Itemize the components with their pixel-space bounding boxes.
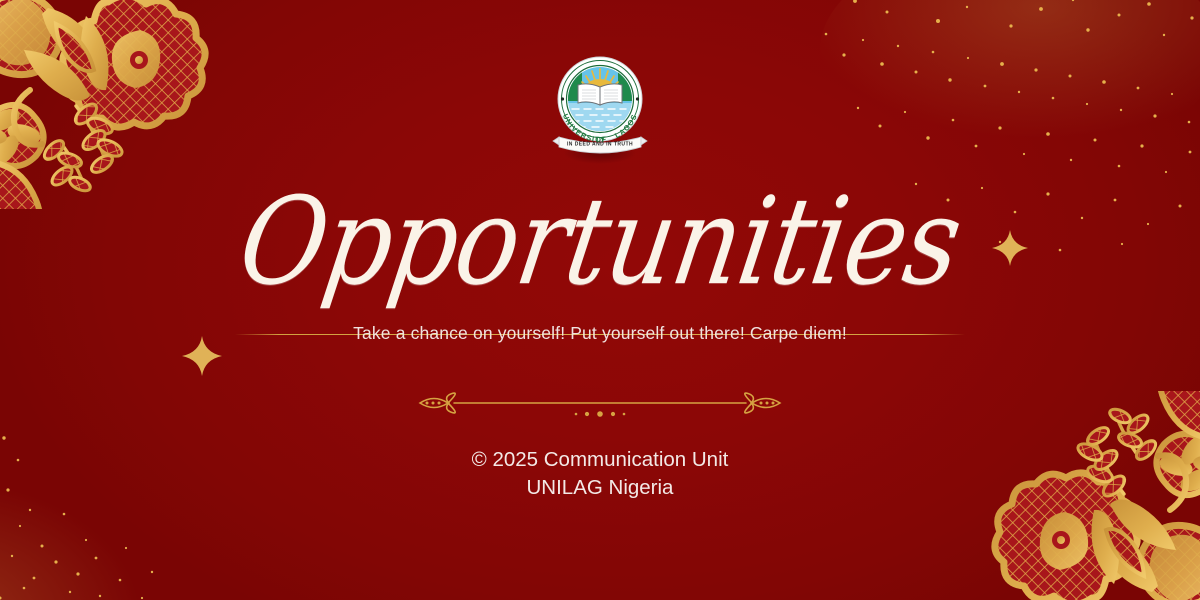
tagline: Take a chance on yourself! Put yourself …: [353, 323, 847, 344]
ornamental-divider-icon: [410, 390, 790, 424]
opportunities-banner: UNIVERSITY OF LAGOS IN DEED AND IN TRUTH…: [0, 0, 1200, 600]
banner-content: UNIVERSITY OF LAGOS IN DEED AND IN TRUTH…: [0, 0, 1200, 600]
footer: © 2025 Communication Unit UNILAG Nigeria: [472, 446, 729, 503]
page-title: Opportunities: [232, 181, 968, 302]
crest-motto: IN DEED AND IN TRUTH: [567, 142, 633, 148]
footer-line-1: © 2025 Communication Unit: [472, 446, 729, 474]
unilag-crest-icon: UNIVERSITY OF LAGOS IN DEED AND IN TRUTH: [545, 49, 655, 167]
footer-line-2: UNILAG Nigeria: [472, 474, 729, 502]
